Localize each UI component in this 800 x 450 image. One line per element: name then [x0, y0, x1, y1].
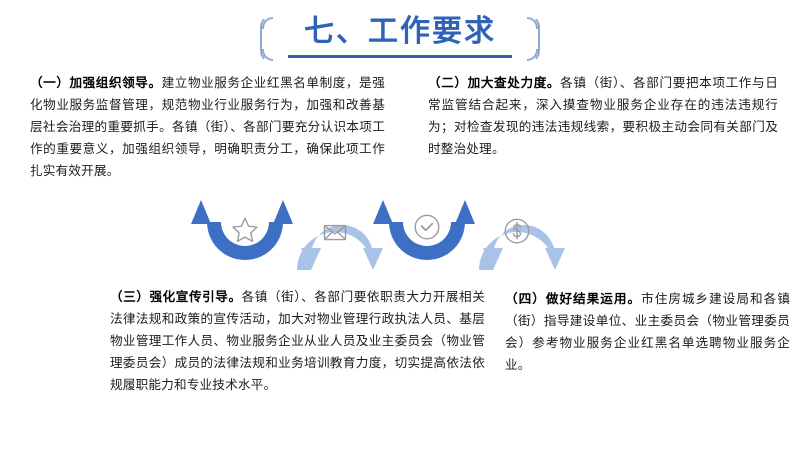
- section-paragraph-1: （一）加强组织领导。建立物业服务企业红黑名单制度，是强化物业服务监督管理，规范物…: [30, 72, 385, 182]
- section-lead-3: （三）强化宣传引导。: [110, 290, 242, 304]
- page-title: 七、工作要求: [288, 13, 512, 58]
- page-header: 七、工作要求: [0, 6, 800, 64]
- check-circle-icon: [410, 210, 444, 244]
- section-lead-4: （四）做好结果运用。: [505, 292, 641, 306]
- right-bracket-icon: [520, 15, 540, 63]
- arc-icon-layer: [190, 186, 580, 284]
- section-paragraph-2: （二）加大查处力度。各镇（街）、各部门要把本项工作与日常监管结合起来，深入摸查物…: [428, 72, 778, 160]
- section-lead-2: （二）加大查处力度。: [428, 76, 560, 90]
- section-body-3: 各镇（街）、各部门要依职责大力开展相关法律法规和政策的宣传活动，加大对物业管理行…: [110, 290, 485, 392]
- star-icon: [228, 213, 262, 247]
- arc-chain-graphic: [190, 186, 580, 284]
- section-body-1: 建立物业服务企业红黑名单制度，是强化物业服务监督管理，规范物业行业服务行为，加强…: [30, 76, 385, 178]
- dollar-circle-icon: [500, 214, 534, 248]
- section-paragraph-3: （三）强化宣传引导。各镇（街）、各部门要依职责大力开展相关法律法规和政策的宣传活…: [110, 286, 485, 396]
- title-bracket-wrap: 七、工作要求: [260, 13, 540, 58]
- section-paragraph-4: （四）做好结果运用。市住房城乡建设局和各镇（街）指导建设单位、业主委员会（物业管…: [505, 288, 790, 376]
- left-bracket-icon: [260, 15, 280, 63]
- mail-icon: [318, 215, 352, 249]
- section-lead-1: （一）加强组织领导。: [30, 76, 162, 90]
